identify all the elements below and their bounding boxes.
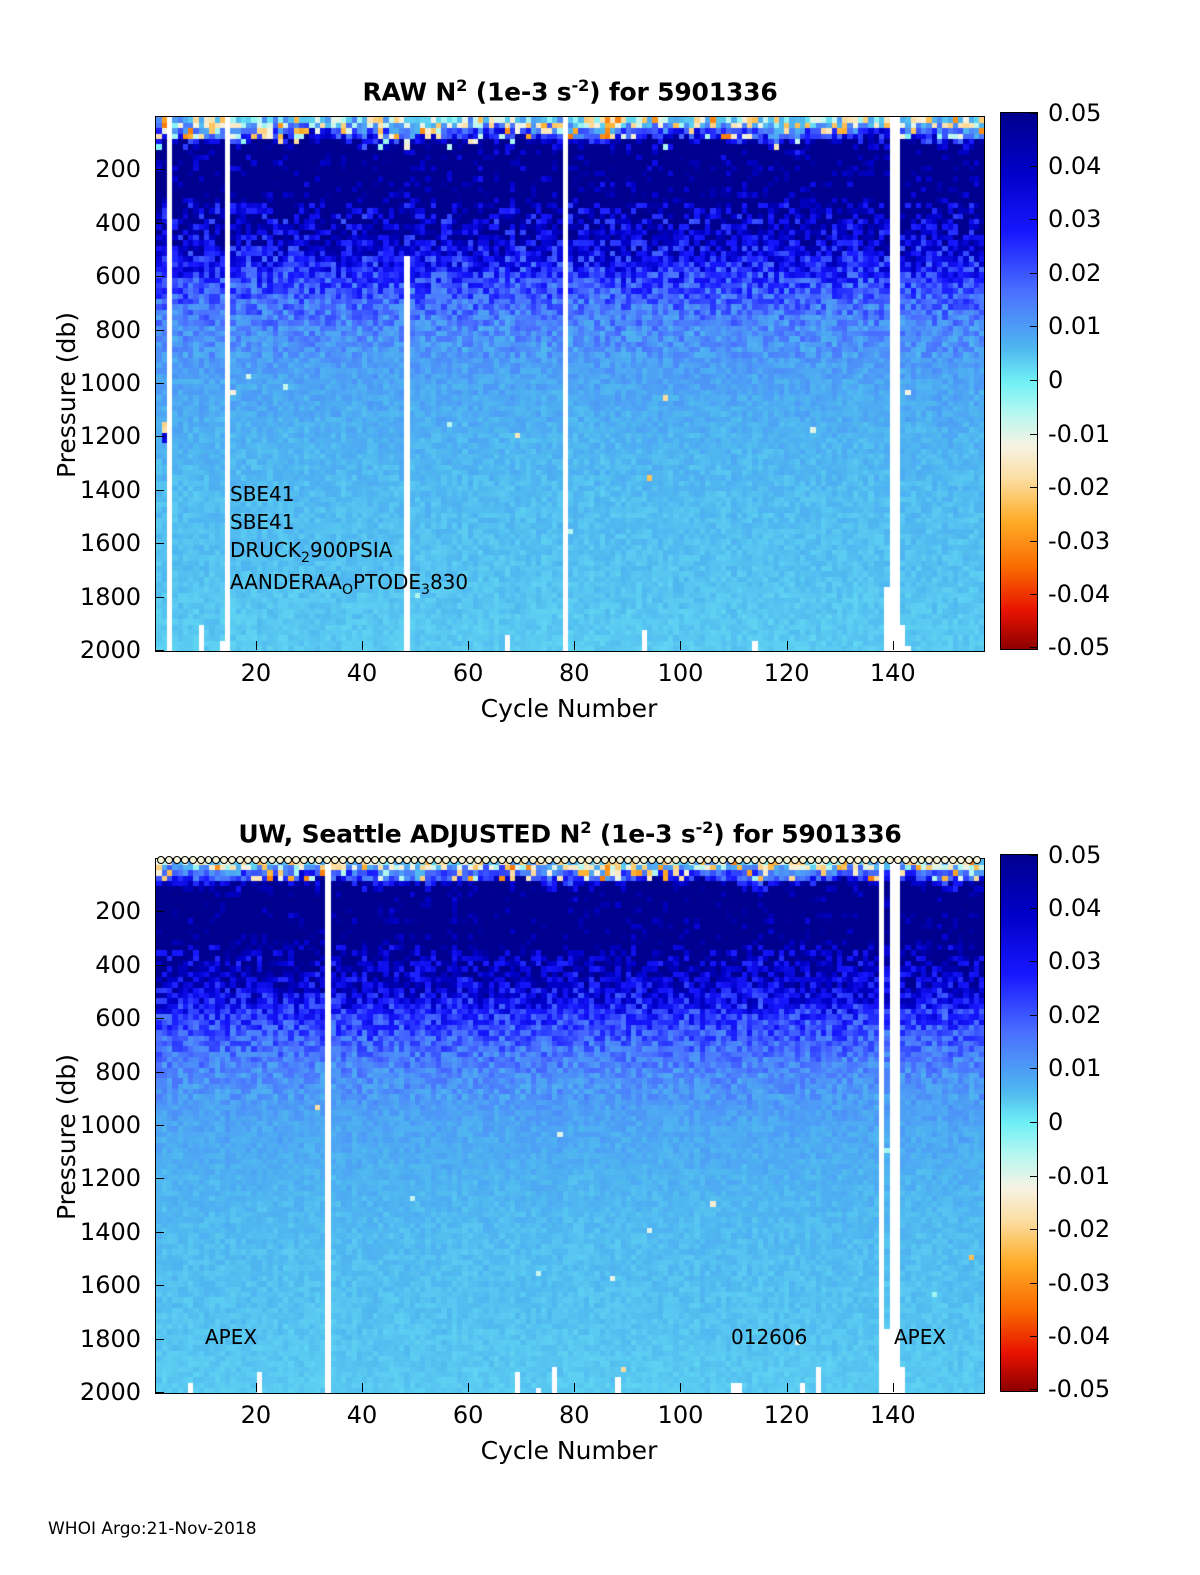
x-tick-120 (787, 1383, 788, 1392)
x-tick-140 (893, 1383, 894, 1392)
colorbar-raw[interactable]: 0.050.040.030.020.010-0.01-0.02-0.03-0.0… (1000, 112, 1040, 650)
colorbar-tick-label-6: -0.01 (1048, 1162, 1110, 1190)
y-tick-400 (155, 965, 164, 966)
x-tick-120 (787, 641, 788, 650)
x-tick-20 (256, 1383, 257, 1392)
x-tick-140 (893, 641, 894, 650)
colorbar-tick-7 (1030, 487, 1037, 488)
annot-optode-brand: AANDERAA (230, 570, 342, 594)
panel-raw-title: RAW N2 (1e-3 s-2) for 5901336 (0, 76, 1140, 106)
colorbar-tick-4 (1030, 326, 1037, 327)
colorbar-tick-1 (1030, 166, 1037, 167)
colorbar-tick-label-1: 0.04 (1048, 894, 1101, 922)
colorbar-tick-6 (1030, 1176, 1037, 1177)
y-tick-200 (155, 169, 164, 170)
annot-druck-model: 900PSIA (310, 538, 393, 562)
colorbar-tick-5 (1030, 380, 1037, 381)
y-tick-200 (155, 911, 164, 912)
colorbar-tick-label-10: -0.05 (1048, 633, 1110, 661)
colorbar-tick-label-10: -0.05 (1048, 1375, 1110, 1403)
annot-optode-name: PTODE (353, 570, 421, 594)
colorbar-tick-label-2: 0.03 (1048, 947, 1101, 975)
colorbar-tick-8 (1030, 541, 1037, 542)
x-tick-label-100: 100 (658, 659, 704, 687)
colorbar-tick-2 (1030, 961, 1037, 962)
annotation-sensor-ctd-1: SBE41 (230, 482, 295, 506)
y-tick-1200 (155, 436, 164, 437)
y-tick-1800 (155, 1339, 164, 1340)
xlabel-raw: Cycle Number (481, 694, 658, 723)
colorbar-tick-label-9: -0.04 (1048, 1322, 1110, 1350)
colorbar-tick-label-7: -0.02 (1048, 1215, 1110, 1243)
colorbar-tick-label-0: 0.05 (1048, 841, 1101, 869)
x-tick-label-60: 60 (453, 1401, 484, 1429)
y-tick-1400 (155, 1232, 164, 1233)
x-tick-100 (680, 641, 681, 650)
panel-adjusted-title: UW, Seattle ADJUSTED N2 (1e-3 s-2) for 5… (0, 818, 1140, 848)
y-tick-label-400: 400 (37, 951, 141, 979)
colorbar-tick-label-1: 0.04 (1048, 152, 1101, 180)
colorbar-tick-label-7: -0.02 (1048, 473, 1110, 501)
annotation-float-serial: 012606 (731, 1325, 807, 1349)
colorbar-tick-label-9: -0.04 (1048, 580, 1110, 608)
y-tick-1000 (155, 383, 164, 384)
y-tick-1600 (155, 543, 164, 544)
x-tick-label-80: 80 (559, 659, 590, 687)
colorbar-gradient-raw (1000, 112, 1038, 650)
x-tick-60 (468, 1383, 469, 1392)
y-tick-1600 (155, 1285, 164, 1286)
colorbar-tick-label-4: 0.01 (1048, 1054, 1101, 1082)
colorbar-tick-10 (1030, 1389, 1037, 1390)
x-tick-label-140: 140 (870, 1401, 916, 1429)
title-middle: (1e-3 s (467, 77, 571, 106)
y-tick-label-2000: 2000 (37, 636, 141, 664)
xlabel-adjusted: Cycle Number (481, 1436, 658, 1465)
ylabel-raw: Pressure (db) (52, 312, 81, 478)
annotation-sensor-oxygen: AANDERAAOPTODE3830 (230, 570, 468, 598)
colorbar-gradient-adjusted (1000, 854, 1038, 1392)
y-tick-600 (155, 1018, 164, 1019)
y-tick-1200 (155, 1178, 164, 1179)
y-tick-label-200: 200 (37, 155, 141, 183)
x-tick-label-120: 120 (764, 1401, 810, 1429)
colorbar-tick-2 (1030, 219, 1037, 220)
y-tick-label-1400: 1400 (37, 1218, 141, 1246)
colorbar-tick-3 (1030, 273, 1037, 274)
title-suffix-adj: ) for 5901336 (713, 819, 901, 848)
y-tick-label-1800: 1800 (37, 583, 141, 611)
plot-area-adjusted[interactable] (155, 858, 985, 1394)
y-tick-2000 (155, 650, 164, 651)
colorbar-tick-8 (1030, 1283, 1037, 1284)
colorbar-tick-3 (1030, 1015, 1037, 1016)
y-tick-label-600: 600 (37, 1004, 141, 1032)
annot-druck-name: DRUCK (230, 538, 301, 562)
x-tick-label-100: 100 (658, 1401, 704, 1429)
colorbar-tick-label-5: 0 (1048, 366, 1063, 394)
colorbar-tick-label-8: -0.03 (1048, 527, 1110, 555)
colorbar-tick-4 (1030, 1068, 1037, 1069)
title-superscript-1-adj: 2 (580, 818, 591, 837)
colorbar-tick-5 (1030, 1122, 1037, 1123)
colorbar-tick-label-3: 0.02 (1048, 1001, 1101, 1029)
title-superscript-2: -2 (572, 76, 590, 95)
y-tick-800 (155, 1072, 164, 1073)
y-tick-800 (155, 330, 164, 331)
x-tick-label-20: 20 (241, 1401, 272, 1429)
colorbar-tick-9 (1030, 1336, 1037, 1337)
x-tick-60 (468, 641, 469, 650)
y-tick-1400 (155, 490, 164, 491)
colorbar-tick-label-0: 0.05 (1048, 99, 1101, 127)
annotation-float-type-left: APEX (205, 1325, 257, 1349)
y-tick-label-1400: 1400 (37, 476, 141, 504)
y-tick-label-2000: 2000 (37, 1378, 141, 1406)
title-prefix: RAW N (362, 77, 456, 106)
colorbar-adjusted[interactable]: 0.050.040.030.020.010-0.01-0.02-0.03-0.0… (1000, 854, 1040, 1392)
title-middle-adj: (1e-3 s (591, 819, 695, 848)
x-tick-40 (362, 1383, 363, 1392)
annotation-sensor-pressure: DRUCK2900PSIA (230, 538, 392, 566)
x-tick-20 (256, 641, 257, 650)
annot-optode-sub2: 3 (421, 582, 430, 598)
x-tick-label-80: 80 (559, 1401, 590, 1429)
y-tick-label-1800: 1800 (37, 1325, 141, 1353)
x-tick-80 (574, 641, 575, 650)
title-prefix-adj: UW, Seattle ADJUSTED N (238, 819, 580, 848)
annot-optode-sub1: O (342, 582, 353, 598)
x-tick-label-40: 40 (347, 659, 378, 687)
colorbar-tick-label-4: 0.01 (1048, 312, 1101, 340)
y-tick-label-1600: 1600 (37, 1271, 141, 1299)
ylabel-adjusted: Pressure (db) (52, 1054, 81, 1220)
x-tick-label-140: 140 (870, 659, 916, 687)
y-tick-label-1600: 1600 (37, 529, 141, 557)
title-superscript-1: 2 (456, 76, 467, 95)
annot-druck-sub: 2 (301, 550, 310, 566)
annotation-sensor-ctd-2: SBE41 (230, 510, 295, 534)
colorbar-tick-10 (1030, 647, 1037, 648)
y-tick-label-200: 200 (37, 897, 141, 925)
colorbar-tick-label-3: 0.02 (1048, 259, 1101, 287)
y-tick-600 (155, 276, 164, 277)
x-tick-40 (362, 641, 363, 650)
colorbar-tick-label-6: -0.01 (1048, 420, 1110, 448)
y-tick-label-400: 400 (37, 209, 141, 237)
colorbar-tick-label-5: 0 (1048, 1108, 1063, 1136)
annot-optode-model: 830 (430, 570, 468, 594)
colorbar-tick-7 (1030, 1229, 1037, 1230)
colorbar-tick-6 (1030, 434, 1037, 435)
colorbar-tick-9 (1030, 594, 1037, 595)
colorbar-tick-label-2: 0.03 (1048, 205, 1101, 233)
x-tick-label-60: 60 (453, 659, 484, 687)
x-tick-100 (680, 1383, 681, 1392)
x-tick-80 (574, 1383, 575, 1392)
title-suffix: ) for 5901336 (589, 77, 777, 106)
title-superscript-2-adj: -2 (696, 818, 714, 837)
colorbar-tick-0 (1030, 855, 1037, 856)
y-tick-1800 (155, 597, 164, 598)
y-tick-label-600: 600 (37, 262, 141, 290)
y-tick-400 (155, 223, 164, 224)
y-tick-1000 (155, 1125, 164, 1126)
colorbar-tick-1 (1030, 908, 1037, 909)
figure-footer: WHOI Argo:21-Nov-2018 (48, 1519, 257, 1539)
annotation-float-type-right: APEX (894, 1325, 946, 1349)
x-tick-label-120: 120 (764, 659, 810, 687)
colorbar-tick-label-8: -0.03 (1048, 1269, 1110, 1297)
x-tick-label-40: 40 (347, 1401, 378, 1429)
y-tick-2000 (155, 1392, 164, 1393)
colorbar-tick-0 (1030, 113, 1037, 114)
x-tick-label-20: 20 (241, 659, 272, 687)
